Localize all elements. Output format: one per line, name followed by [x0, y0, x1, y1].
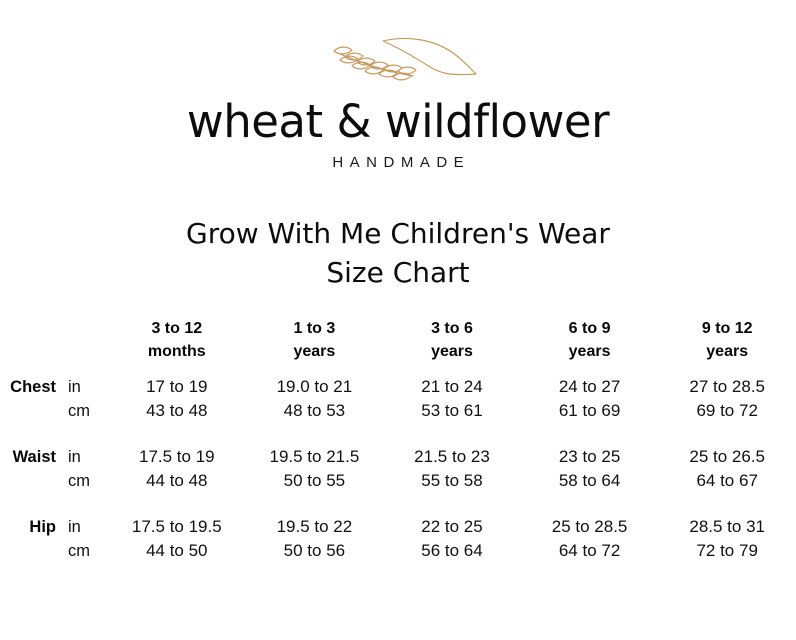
cell-chest-in-1: 19.0 to 21 — [246, 375, 384, 399]
row-label-chest: Chest — [0, 375, 66, 399]
row-label-chest-cont — [0, 399, 66, 423]
cell-waist-in-3: 23 to 25 — [521, 445, 659, 469]
cell-hip-cm-4: 72 to 79 — [658, 539, 796, 563]
row-unit-waist-cm: cm — [66, 469, 108, 493]
table-body: Chest in 17 to 19 19.0 to 21 21 to 24 24… — [0, 375, 796, 563]
size-chart-table: 3 to 12 months 1 to 3 years 3 to 6 years… — [0, 317, 796, 563]
cell-waist-cm-2: 55 to 58 — [383, 469, 521, 493]
cell-chest-cm-4: 69 to 72 — [658, 399, 796, 423]
page-title: Grow With Me Children's Wear Size Chart — [0, 215, 796, 292]
cell-hip-in-3: 25 to 28.5 — [521, 515, 659, 539]
cell-hip-in-4: 28.5 to 31 — [658, 515, 796, 539]
column-header-0-line-2: months — [108, 340, 246, 363]
column-header-1: 1 to 3 years — [246, 317, 384, 375]
column-header-4-line-1: 9 to 12 — [658, 317, 796, 340]
column-header-2-line-1: 3 to 6 — [383, 317, 521, 340]
brand-tagline: HANDMADE — [0, 154, 796, 171]
cell-chest-cm-1: 48 to 53 — [246, 399, 384, 423]
wheat-sprig-icon — [313, 34, 483, 86]
cell-chest-cm-3: 61 to 69 — [521, 399, 659, 423]
cell-chest-in-3: 24 to 27 — [521, 375, 659, 399]
column-header-3-line-1: 6 to 9 — [521, 317, 659, 340]
brand-header: wheat & wildflower HANDMADE — [0, 0, 796, 171]
header-row: 3 to 12 months 1 to 3 years 3 to 6 years… — [0, 317, 796, 375]
row-group-spacer-1-cell — [0, 423, 796, 445]
table-row-waist-in: Waist in 17.5 to 19 19.5 to 21.5 21.5 to… — [0, 445, 796, 469]
cell-hip-in-1: 19.5 to 22 — [246, 515, 384, 539]
column-header-4: 9 to 12 years — [658, 317, 796, 375]
cell-chest-in-0: 17 to 19 — [108, 375, 246, 399]
cell-hip-cm-1: 50 to 56 — [246, 539, 384, 563]
row-label-hip-cont — [0, 539, 66, 563]
column-header-3-line-2: years — [521, 340, 659, 363]
cell-waist-cm-3: 58 to 64 — [521, 469, 659, 493]
table-row-hip-in: Hip in 17.5 to 19.5 19.5 to 22 22 to 25 … — [0, 515, 796, 539]
cell-hip-cm-0: 44 to 50 — [108, 539, 246, 563]
column-header-0: 3 to 12 months — [108, 317, 246, 375]
table-row-hip-cm: cm 44 to 50 50 to 56 56 to 64 64 to 72 7… — [0, 539, 796, 563]
table-row-chest-in: Chest in 17 to 19 19.0 to 21 21 to 24 24… — [0, 375, 796, 399]
row-group-spacer-2 — [0, 493, 796, 515]
cell-hip-in-2: 22 to 25 — [383, 515, 521, 539]
table-corner-label — [0, 317, 66, 375]
row-label-hip: Hip — [0, 515, 66, 539]
column-header-2-line-2: years — [383, 340, 521, 363]
cell-waist-in-0: 17.5 to 19 — [108, 445, 246, 469]
row-unit-chest-in: in — [66, 375, 108, 399]
cell-waist-in-4: 25 to 26.5 — [658, 445, 796, 469]
table-unit-header — [66, 317, 108, 375]
table-header: 3 to 12 months 1 to 3 years 3 to 6 years… — [0, 317, 796, 375]
row-unit-waist-in: in — [66, 445, 108, 469]
cell-waist-cm-4: 64 to 67 — [658, 469, 796, 493]
row-unit-hip-cm: cm — [66, 539, 108, 563]
cell-waist-in-1: 19.5 to 21.5 — [246, 445, 384, 469]
cell-waist-cm-1: 50 to 55 — [246, 469, 384, 493]
table-row-chest-cm: cm 43 to 48 48 to 53 53 to 61 61 to 69 6… — [0, 399, 796, 423]
cell-hip-cm-3: 64 to 72 — [521, 539, 659, 563]
row-group-spacer-2-cell — [0, 493, 796, 515]
brand-name: wheat & wildflower — [0, 98, 796, 145]
column-header-1-line-1: 1 to 3 — [246, 317, 384, 340]
page-title-line-1: Grow With Me Children's Wear — [0, 215, 796, 254]
cell-chest-cm-2: 53 to 61 — [383, 399, 521, 423]
cell-chest-in-4: 27 to 28.5 — [658, 375, 796, 399]
row-unit-chest-cm: cm — [66, 399, 108, 423]
cell-hip-in-0: 17.5 to 19.5 — [108, 515, 246, 539]
row-label-waist: Waist — [0, 445, 66, 469]
row-unit-hip-in: in — [66, 515, 108, 539]
column-header-2: 3 to 6 years — [383, 317, 521, 375]
row-label-waist-cont — [0, 469, 66, 493]
column-header-1-line-2: years — [246, 340, 384, 363]
size-chart-page: wheat & wildflower HANDMADE Grow With Me… — [0, 0, 796, 640]
cell-waist-cm-0: 44 to 48 — [108, 469, 246, 493]
column-header-0-line-1: 3 to 12 — [108, 317, 246, 340]
page-title-line-2: Size Chart — [0, 254, 796, 293]
row-group-spacer-1 — [0, 423, 796, 445]
cell-chest-in-2: 21 to 24 — [383, 375, 521, 399]
cell-waist-in-2: 21.5 to 23 — [383, 445, 521, 469]
column-header-3: 6 to 9 years — [521, 317, 659, 375]
column-header-4-line-2: years — [658, 340, 796, 363]
cell-chest-cm-0: 43 to 48 — [108, 399, 246, 423]
table-row-waist-cm: cm 44 to 48 50 to 55 55 to 58 58 to 64 6… — [0, 469, 796, 493]
cell-hip-cm-2: 56 to 64 — [383, 539, 521, 563]
